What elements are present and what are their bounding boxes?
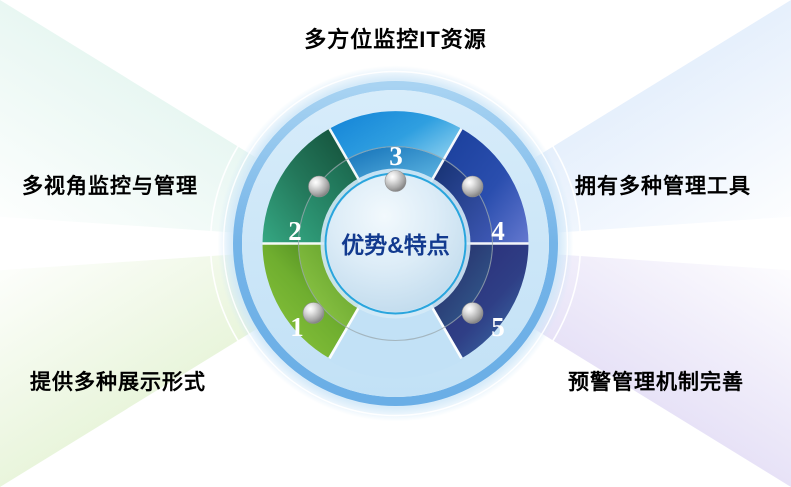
marker-5[interactable] bbox=[462, 303, 483, 324]
infographic-root: 3 2 1 4 5 优势&特点 多方位监控IT资源 多视角监控与管理 提供多种展… bbox=[0, 0, 791, 487]
segment-number-3: 3 bbox=[389, 141, 403, 171]
callout-bottom-left: 提供多种展示形式 bbox=[30, 366, 206, 396]
callout-bottom-right: 预警管理机制完善 bbox=[568, 366, 744, 396]
segment-number-4: 4 bbox=[491, 216, 505, 246]
callout-top-left: 多视角监控与管理 bbox=[22, 170, 198, 200]
callout-top-text: 多方位监控IT资源 bbox=[304, 22, 487, 54]
wheel-layer: 3 2 1 4 5 优势&特点 bbox=[0, 0, 791, 487]
segment-number-5: 5 bbox=[491, 312, 505, 342]
segment-number-1: 1 bbox=[290, 312, 304, 342]
marker-4[interactable] bbox=[462, 176, 483, 197]
wheel: 3 2 1 4 5 优势&特点 bbox=[218, 66, 574, 422]
callout-top: 多方位监控IT资源 bbox=[0, 22, 791, 54]
marker-3[interactable] bbox=[385, 171, 406, 192]
marker-2[interactable] bbox=[309, 176, 330, 197]
marker-1[interactable] bbox=[303, 303, 324, 324]
center-label: 优势&特点 bbox=[341, 232, 450, 258]
segment-number-2: 2 bbox=[288, 216, 302, 246]
callout-top-right: 拥有多种管理工具 bbox=[575, 170, 751, 200]
